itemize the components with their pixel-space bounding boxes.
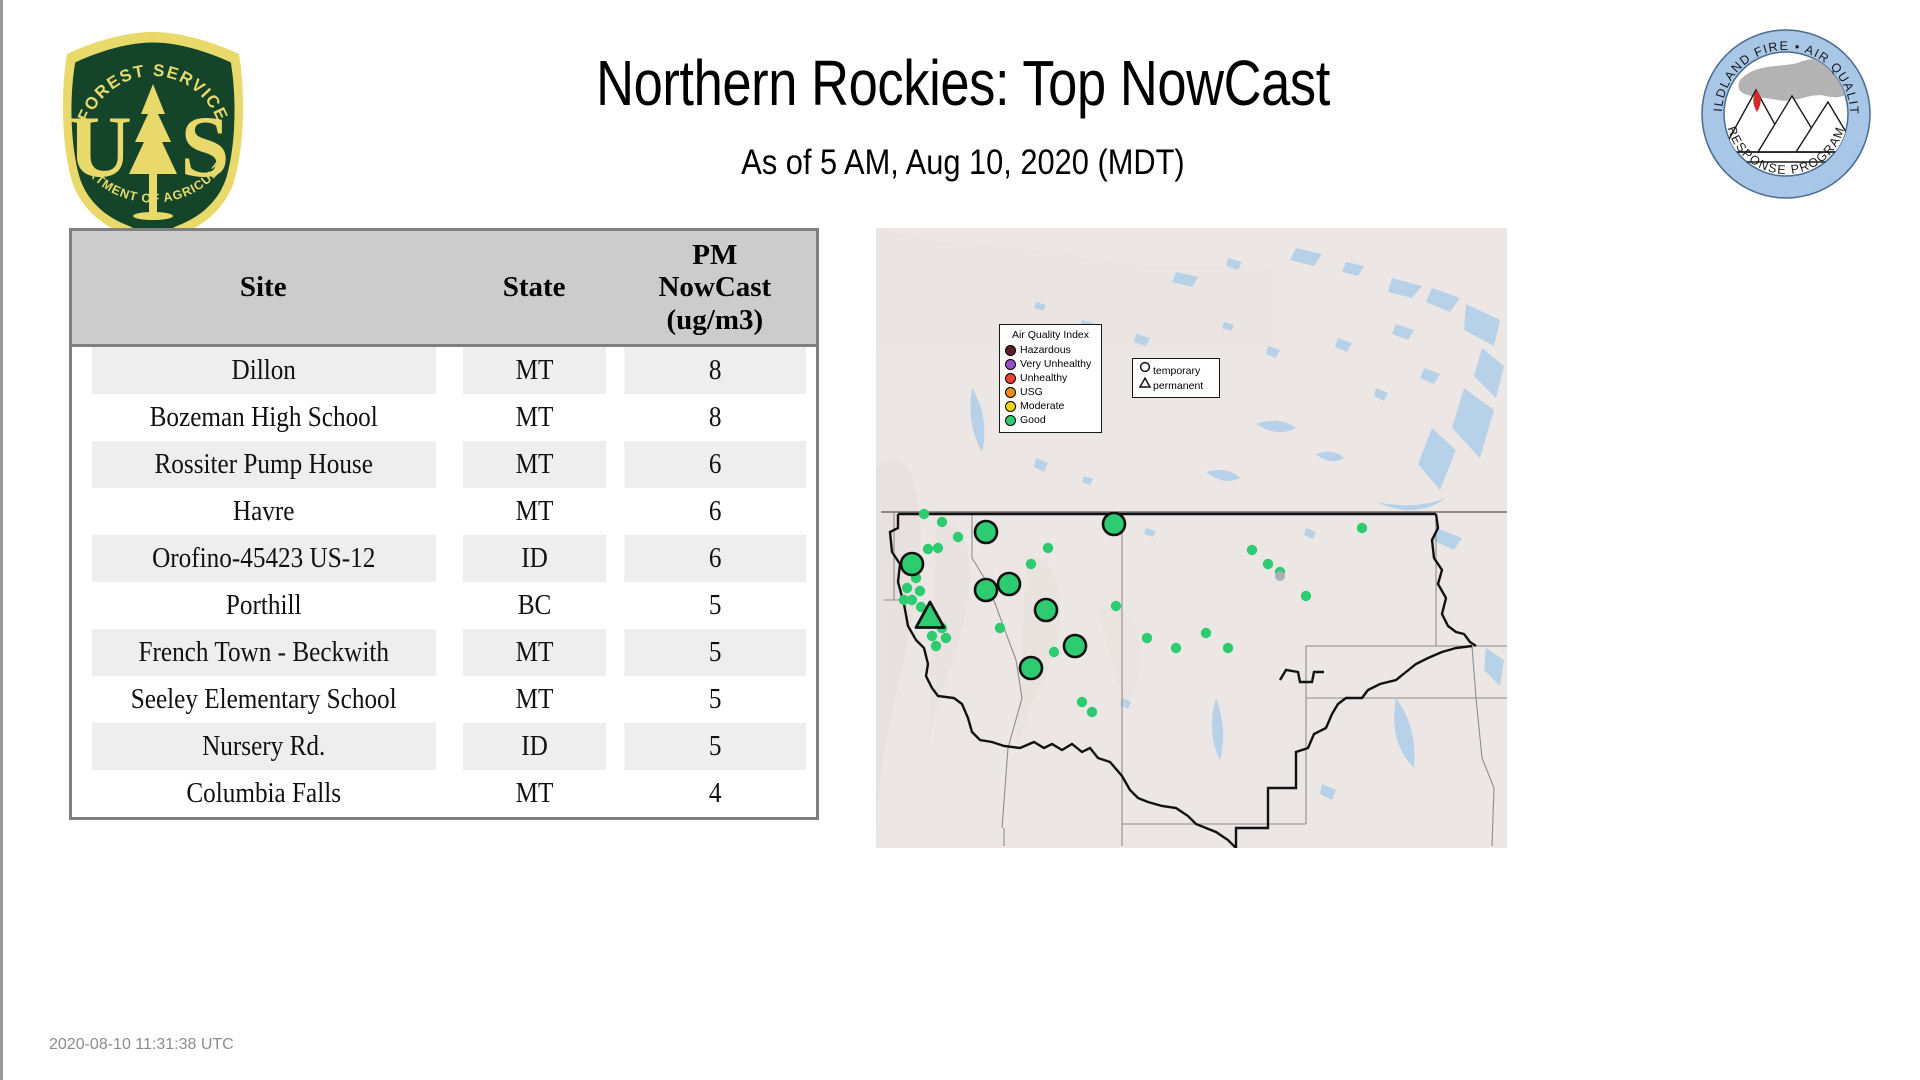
aqi-swatch-icon <box>1005 373 1016 384</box>
aqi-swatch-icon <box>1005 401 1016 412</box>
cell-state: MT <box>463 629 606 676</box>
aqi-legend-label: USG <box>1020 386 1043 398</box>
cell-state: MT <box>463 488 606 535</box>
cell-pm-nowcast: 4 <box>624 770 807 819</box>
table-row[interactable]: Seeley Elementary SchoolMT5 <box>71 676 818 723</box>
map-small-monitor-dot[interactable] <box>1087 707 1097 717</box>
aqi-legend-item: Unhealthy <box>1005 371 1096 385</box>
map-monitor-circle[interactable] <box>1035 599 1057 621</box>
wfaqrp-logo-icon: WILDLAND FIRE • AIR QUALITY RESPONSE PRO… <box>1700 28 1872 200</box>
cell-state: MT <box>463 676 606 723</box>
map-small-monitor-dot[interactable] <box>931 641 941 651</box>
map-inactive-monitor-dots <box>1275 571 1285 581</box>
table-row[interactable]: PorthillBC5 <box>71 582 818 629</box>
table-body: DillonMT8Bozeman High SchoolMT8Rossiter … <box>71 346 818 819</box>
marker-legend-label-temporary: temporary <box>1153 365 1200 377</box>
map-monitor-circle[interactable] <box>1103 513 1125 535</box>
column-header-site[interactable]: Site <box>71 230 455 346</box>
map-small-monitor-dot[interactable] <box>907 595 917 605</box>
cell-pm-nowcast: 6 <box>624 441 807 488</box>
map-small-monitor-dot[interactable] <box>1111 601 1121 611</box>
cell-state: MT <box>463 346 606 395</box>
cell-pm-nowcast: 6 <box>624 488 807 535</box>
aqi-swatch-icon <box>1005 345 1016 356</box>
map-small-monitor-dot[interactable] <box>923 544 933 554</box>
cell-state: ID <box>463 535 606 582</box>
cell-site: Porthill <box>90 582 436 629</box>
map-small-monitor-dot[interactable] <box>937 517 947 527</box>
map-monitor-circle[interactable] <box>975 579 997 601</box>
page-subtitle: As of 5 AM, Aug 10, 2020 (MDT) <box>382 143 1544 183</box>
aqi-legend-item: Moderate <box>1005 399 1096 413</box>
map-monitor-circle[interactable] <box>975 521 997 543</box>
cell-site: Dillon <box>90 346 436 395</box>
cell-state: MT <box>463 441 606 488</box>
aqi-legend: Air Quality Index HazardousVery Unhealth… <box>999 324 1102 433</box>
aqi-legend-label: Good <box>1020 414 1046 426</box>
map-small-monitor-dot[interactable] <box>1357 523 1367 533</box>
aqi-legend-title: Air Quality Index <box>1005 329 1096 341</box>
map-basemap <box>876 228 1507 848</box>
cell-state: MT <box>463 394 606 441</box>
table-row[interactable]: HavreMT6 <box>71 488 818 535</box>
aqi-legend-item: Very Unhealthy <box>1005 357 1096 371</box>
map-monitor-circle[interactable] <box>1020 657 1042 679</box>
aqi-legend-label: Unhealthy <box>1020 372 1067 384</box>
table-row[interactable]: Rossiter Pump HouseMT6 <box>71 441 818 488</box>
marker-type-legend: temporary permanent <box>1132 358 1220 398</box>
map-small-monitor-dot[interactable] <box>1043 543 1053 553</box>
cell-site: Columbia Falls <box>90 770 436 819</box>
map-small-monitor-dot[interactable] <box>1223 643 1233 653</box>
aqi-legend-label: Hazardous <box>1020 344 1071 356</box>
sites-table: Site State PM NowCast (ug/m3) DillonMT8B… <box>69 228 819 820</box>
cell-pm-nowcast: 6 <box>624 535 807 582</box>
map-small-monitor-dot[interactable] <box>1201 628 1211 638</box>
cell-site: Seeley Elementary School <box>90 676 436 723</box>
cell-site: Bozeman High School <box>90 394 436 441</box>
aqi-legend-label: Moderate <box>1020 400 1064 412</box>
aqi-legend-item: Hazardous <box>1005 343 1096 357</box>
map-small-monitor-dot[interactable] <box>902 583 912 593</box>
table-header-row: Site State PM NowCast (ug/m3) <box>71 230 818 346</box>
cell-state: ID <box>463 723 606 770</box>
aqi-legend-rows: HazardousVery UnhealthyUnhealthyUSGModer… <box>1005 343 1096 427</box>
aqi-legend-item: USG <box>1005 385 1096 399</box>
cell-site: Nursery Rd. <box>90 723 436 770</box>
cell-state: BC <box>463 582 606 629</box>
cell-pm-nowcast: 5 <box>624 582 807 629</box>
map-monitor-circle[interactable] <box>901 553 923 575</box>
column-header-pm-nowcast[interactable]: PM NowCast (ug/m3) <box>614 230 818 346</box>
map-small-monitor-dot[interactable] <box>915 586 925 596</box>
table-row[interactable]: French Town - BeckwithMT5 <box>71 629 818 676</box>
cell-pm-nowcast: 5 <box>624 723 807 770</box>
table-row[interactable]: Orofino-45423 US-12ID6 <box>71 535 818 582</box>
aqi-swatch-icon <box>1005 359 1016 370</box>
table-row[interactable]: Nursery Rd.ID5 <box>71 723 818 770</box>
map-small-monitor-dot[interactable] <box>1301 591 1311 601</box>
map-small-monitor-dot[interactable] <box>1049 647 1059 657</box>
cell-state: MT <box>463 770 606 819</box>
aqi-swatch-icon <box>1005 387 1016 398</box>
map-small-monitor-dot[interactable] <box>933 543 943 553</box>
footer-timestamp: 2020-08-10 11:31:38 UTC <box>49 1036 234 1054</box>
column-header-state[interactable]: State <box>455 230 614 346</box>
map-small-monitor-dot[interactable] <box>1142 633 1152 643</box>
map-small-monitor-dot[interactable] <box>1247 545 1257 555</box>
air-quality-map[interactable]: Air Quality Index HazardousVery Unhealth… <box>876 228 1507 848</box>
map-small-monitor-dot[interactable] <box>1171 643 1181 653</box>
cell-site: Orofino-45423 US-12 <box>90 535 436 582</box>
map-small-monitor-dot[interactable] <box>941 633 951 643</box>
aqi-swatch-icon <box>1005 415 1016 426</box>
cell-site: French Town - Beckwith <box>90 629 436 676</box>
cell-pm-nowcast: 5 <box>624 676 807 723</box>
table-head: Site State PM NowCast (ug/m3) <box>71 230 818 346</box>
marker-legend-label-permanent: permanent <box>1153 380 1203 392</box>
map-monitor-circle[interactable] <box>998 573 1020 595</box>
map-monitor-circle[interactable] <box>1064 635 1086 657</box>
map-small-monitor-dot[interactable] <box>995 623 1005 633</box>
page-title: Northern Rockies: Top NowCast <box>422 50 1504 117</box>
sites-table-container: Site State PM NowCast (ug/m3) DillonMT8B… <box>69 228 819 820</box>
marker-legend-row-permanent: permanent <box>1137 378 1215 393</box>
cell-site: Havre <box>90 488 436 535</box>
map-small-monitor-dot[interactable] <box>1026 559 1036 569</box>
map-inactive-monitor-dot[interactable] <box>1275 571 1285 581</box>
table-row[interactable]: DillonMT8 <box>71 346 818 395</box>
forest-service-logo-icon: U S FOREST SERVICE DEPARTMENT OF AGRICUL… <box>53 28 253 256</box>
table-row[interactable]: Columbia FallsMT4 <box>71 770 818 819</box>
map-small-monitor-dot[interactable] <box>953 532 963 542</box>
map-small-monitor-dot[interactable] <box>919 509 929 519</box>
map-small-monitor-dot[interactable] <box>927 631 937 641</box>
cell-pm-nowcast: 8 <box>624 394 807 441</box>
table-row[interactable]: Bozeman High SchoolMT8 <box>71 394 818 441</box>
map-small-monitor-dot[interactable] <box>1263 559 1273 569</box>
cell-site: Rossiter Pump House <box>90 441 436 488</box>
cell-pm-nowcast: 8 <box>624 346 807 395</box>
cell-pm-nowcast: 5 <box>624 629 807 676</box>
aqi-legend-label: Very Unhealthy <box>1020 358 1091 370</box>
aqi-legend-item: Good <box>1005 413 1096 427</box>
map-small-monitor-dot[interactable] <box>1077 697 1087 707</box>
title-block: Northern Rockies: Top NowCast As of 5 AM… <box>303 50 1623 183</box>
triangle-marker-icon <box>1137 376 1153 395</box>
page-header: U S FOREST SERVICE DEPARTMENT OF AGRICUL… <box>3 0 1920 260</box>
